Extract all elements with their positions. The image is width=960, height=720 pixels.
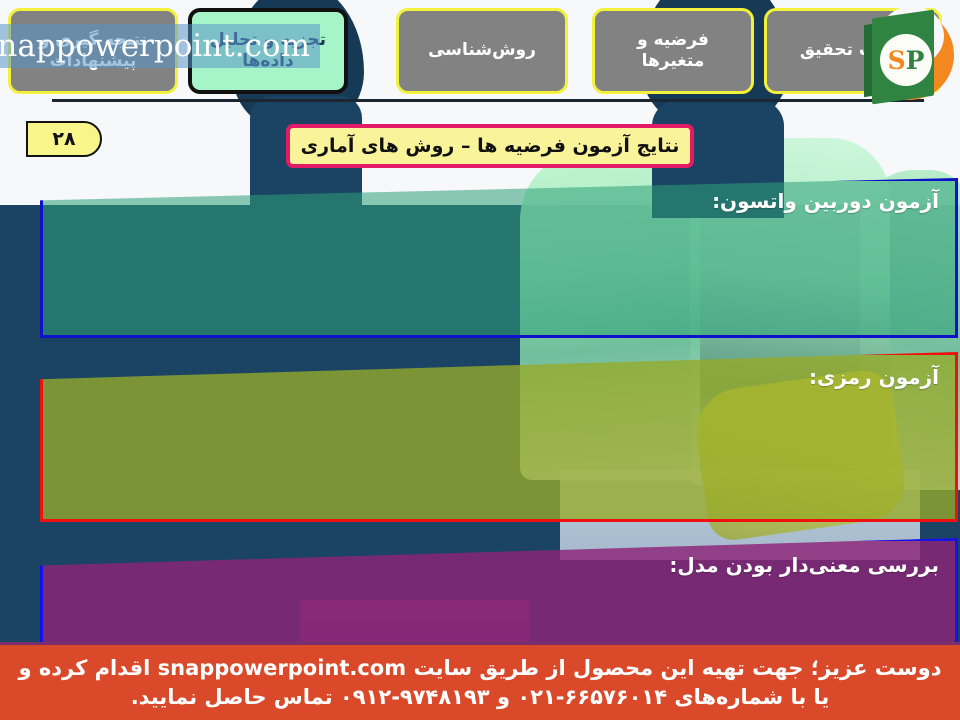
advert-line-1: دوست عزیز؛ جهت تهیه این محصول از طریق سا… <box>19 655 942 681</box>
section-box-ramsey: آزمون رمزی: <box>40 352 958 522</box>
slide-title-banner: نتایج آزمون فرضیه ها – روش های آماری <box>286 124 694 168</box>
tab-bar-divider <box>52 99 924 102</box>
advert-line2-prefix: یا با شماره‌های <box>674 685 829 709</box>
advert-line1-part2: اقدام کرده و <box>19 656 151 680</box>
slide-title-text: نتایج آزمون فرضیه ها – روش های آماری <box>301 135 680 157</box>
page-number-badge: ۲۸ <box>26 121 102 157</box>
advert-line2-and: و <box>497 685 510 709</box>
page-number-value: ۲۸ <box>52 128 75 150</box>
logo-initials: SP <box>888 46 925 75</box>
section-label-ramsey: آزمون رمزی: <box>809 365 939 389</box>
logo-disc: SP <box>880 34 932 86</box>
advert-phone-landline: ۰۲۱-۶۶۵۷۶۰۱۴ <box>517 684 667 710</box>
tab-methodology-label: روش‌شناسی <box>428 40 536 61</box>
site-watermark-text: snappowerpoint.com <box>0 28 320 64</box>
section-label-model-significance: بررسی معنی‌دار بودن مدل: <box>669 553 939 577</box>
advert-line1-part1: دوست عزیز؛ جهت تهیه این محصول از طریق سا… <box>413 656 941 680</box>
sp-logo-icon: SP <box>850 4 958 108</box>
section-label-durbin-watson: آزمون دوربین واتسون: <box>712 189 939 213</box>
tab-methodology[interactable]: روش‌شناسی <box>396 8 568 94</box>
advert-site-url: snappowerpoint.com <box>158 655 407 681</box>
logo-initial-s: S <box>888 46 906 75</box>
advert-line-2: یا با شماره‌های ۰۲۱-۶۶۵۷۶۰۱۴ و ۰۹۱۲-۹۷۴۸… <box>131 684 830 710</box>
slide-canvas: نتیجه گیری و پیشنهادات تجزیه و تحلیل داد… <box>0 0 960 720</box>
tab-hypotheses-variables-label: فرضیه و متغیرها <box>603 30 743 73</box>
site-watermark: snappowerpoint.com <box>0 24 320 68</box>
tab-hypotheses-variables[interactable]: فرضیه و متغیرها <box>592 8 754 94</box>
logo-initial-p: P <box>906 46 925 75</box>
advert-phone-mobile: ۰۹۱۲-۹۷۴۸۱۹۳ <box>340 684 490 710</box>
advert-line2-suffix: تماس حاصل نمایید. <box>131 685 333 709</box>
advert-banner: دوست عزیز؛ جهت تهیه این محصول از طریق سا… <box>0 642 960 720</box>
section-box-durbin-watson: آزمون دوربین واتسون: <box>40 178 958 338</box>
